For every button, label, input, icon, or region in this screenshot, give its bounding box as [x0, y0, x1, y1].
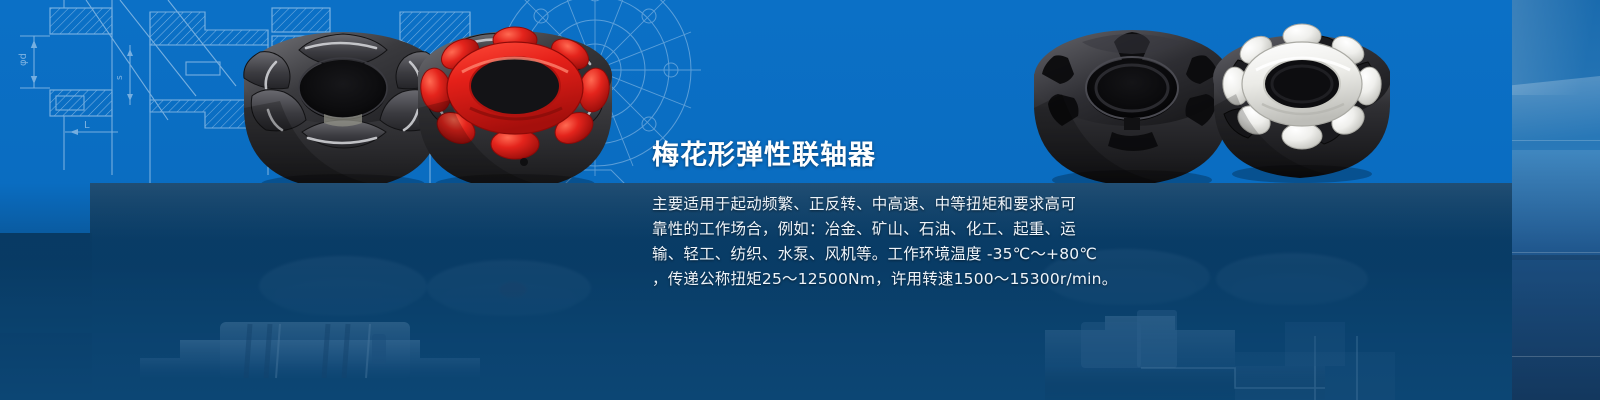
ghost-machinery-left — [120, 300, 550, 400]
banner-title: 梅花形弹性联轴器 — [652, 139, 1072, 173]
svg-text:φd: φd — [18, 53, 29, 66]
svg-text:L: L — [84, 120, 90, 131]
description-line-2: 靠性的工作场合，例如：冶金、矿山、石油、化工、起重、运 — [652, 217, 1072, 242]
description-line-4: ，传递公称扭矩25～12500Nm，许用转速1500～15300r/min。 — [652, 267, 1072, 292]
description-line-3: 输、轻工、纺织、水泵、风机等。工作环境温度 -35℃～+80℃ — [652, 242, 1072, 267]
background-right-column — [1512, 0, 1600, 400]
product-banner: φd φD s — [0, 0, 1600, 400]
banner-description: 主要适用于起动频繁、正反转、中高速、中等扭矩和要求高可 靠性的工作场合，例如：冶… — [652, 192, 1072, 292]
svg-text:s: s — [115, 75, 125, 80]
banner-text-block: 梅花形弹性联轴器 主要适用于起动频繁、正反转、中高速、中等扭矩和要求高可 靠性的… — [652, 139, 1072, 292]
right-column-line-2 — [1512, 252, 1600, 253]
ghost-machinery-right — [985, 296, 1405, 400]
right-column-line-1 — [1512, 140, 1600, 141]
product-photo-left-couplings — [228, 12, 618, 212]
description-line-1: 主要适用于起动频繁、正反转、中高速、中等扭矩和要求高可 — [652, 192, 1072, 217]
right-column-shape-3 — [1512, 150, 1600, 260]
product-photo-right-couplings — [1020, 8, 1390, 203]
right-column-shape-4 — [1512, 255, 1600, 400]
right-column-line-3 — [1512, 356, 1600, 357]
right-column-shape-2 — [1512, 73, 1600, 148]
background-dark-navy-step-left — [0, 233, 92, 400]
